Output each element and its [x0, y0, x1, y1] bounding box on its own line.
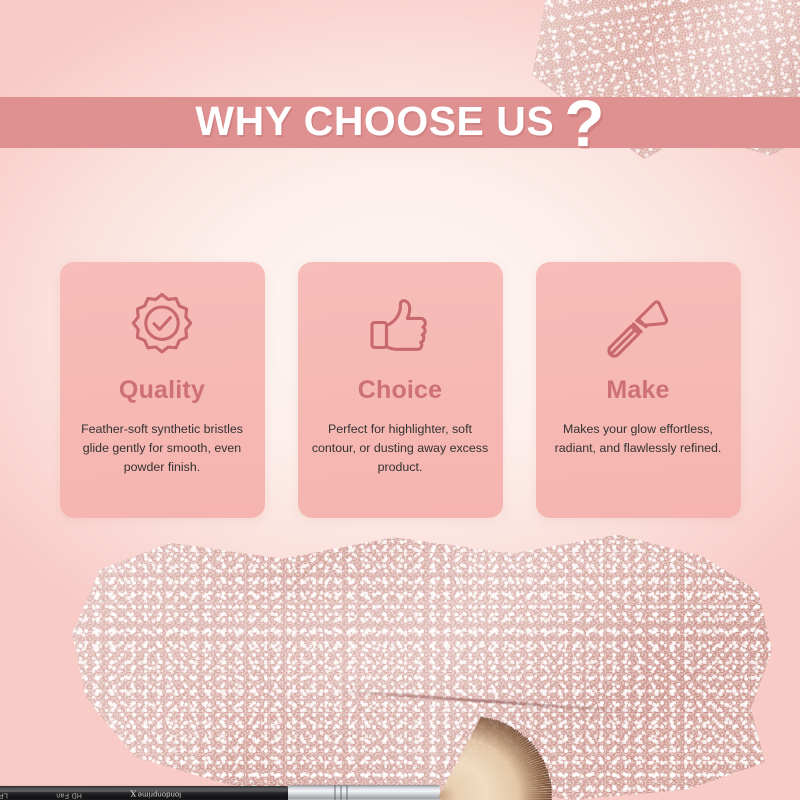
feature-card-title: Quality: [119, 378, 205, 403]
feature-card-title: Choice: [358, 378, 443, 403]
powder-blob: [515, 0, 800, 187]
question-mark-glyph: ?: [564, 98, 604, 149]
feature-cards-row: Quality Feather-soft synthetic bristles …: [0, 262, 800, 518]
brand-name: londonprime: [138, 790, 181, 799]
feature-card-make[interactable]: Make Makes your glow effortless, radiant…: [536, 262, 741, 518]
thumbs-up-icon: [363, 288, 437, 366]
feature-card-description: Feather-soft synthetic bristles glide ge…: [72, 420, 253, 478]
crushed-powder-slab: [72, 532, 772, 800]
why-choose-us-poster: WHY CHOOSE US ? Quality Feather-soft syn…: [0, 0, 800, 800]
brand-swirl-icon: x: [130, 788, 137, 800]
product-photo-zone: LP 109 HD Fan londonprime x: [0, 510, 800, 800]
powder-sheen: [515, 0, 800, 187]
powder-texture-top-right: [515, 0, 800, 187]
brush-ferrule: [288, 785, 440, 800]
feature-card-title: Make: [606, 378, 669, 403]
upper-fan-brush: LP 109 HD Fan londonprime x: [0, 766, 590, 800]
feature-card-choice[interactable]: Choice Perfect for highlighter, soft con…: [298, 262, 503, 518]
makeup-brush-icon: [600, 288, 676, 366]
brush-model-label: HD Fan: [56, 791, 82, 798]
brush-brand-logo: londonprime x: [130, 788, 181, 800]
banner-title: WHY CHOOSE US ?: [195, 96, 604, 147]
brush-code-label: LP 109: [0, 791, 8, 798]
brush-handle: LP 109 HD Fan londonprime x: [0, 786, 292, 800]
feature-card-quality[interactable]: Quality Feather-soft synthetic bristles …: [60, 262, 265, 518]
feature-card-description: Makes your glow effortless, radiant, and…: [548, 420, 729, 458]
quality-seal-check-icon: [124, 288, 200, 366]
header-banner: WHY CHOOSE US ?: [0, 97, 800, 148]
page-title: WHY CHOOSE US: [195, 101, 554, 142]
feature-card-description: Perfect for highlighter, soft contour, o…: [310, 420, 491, 478]
